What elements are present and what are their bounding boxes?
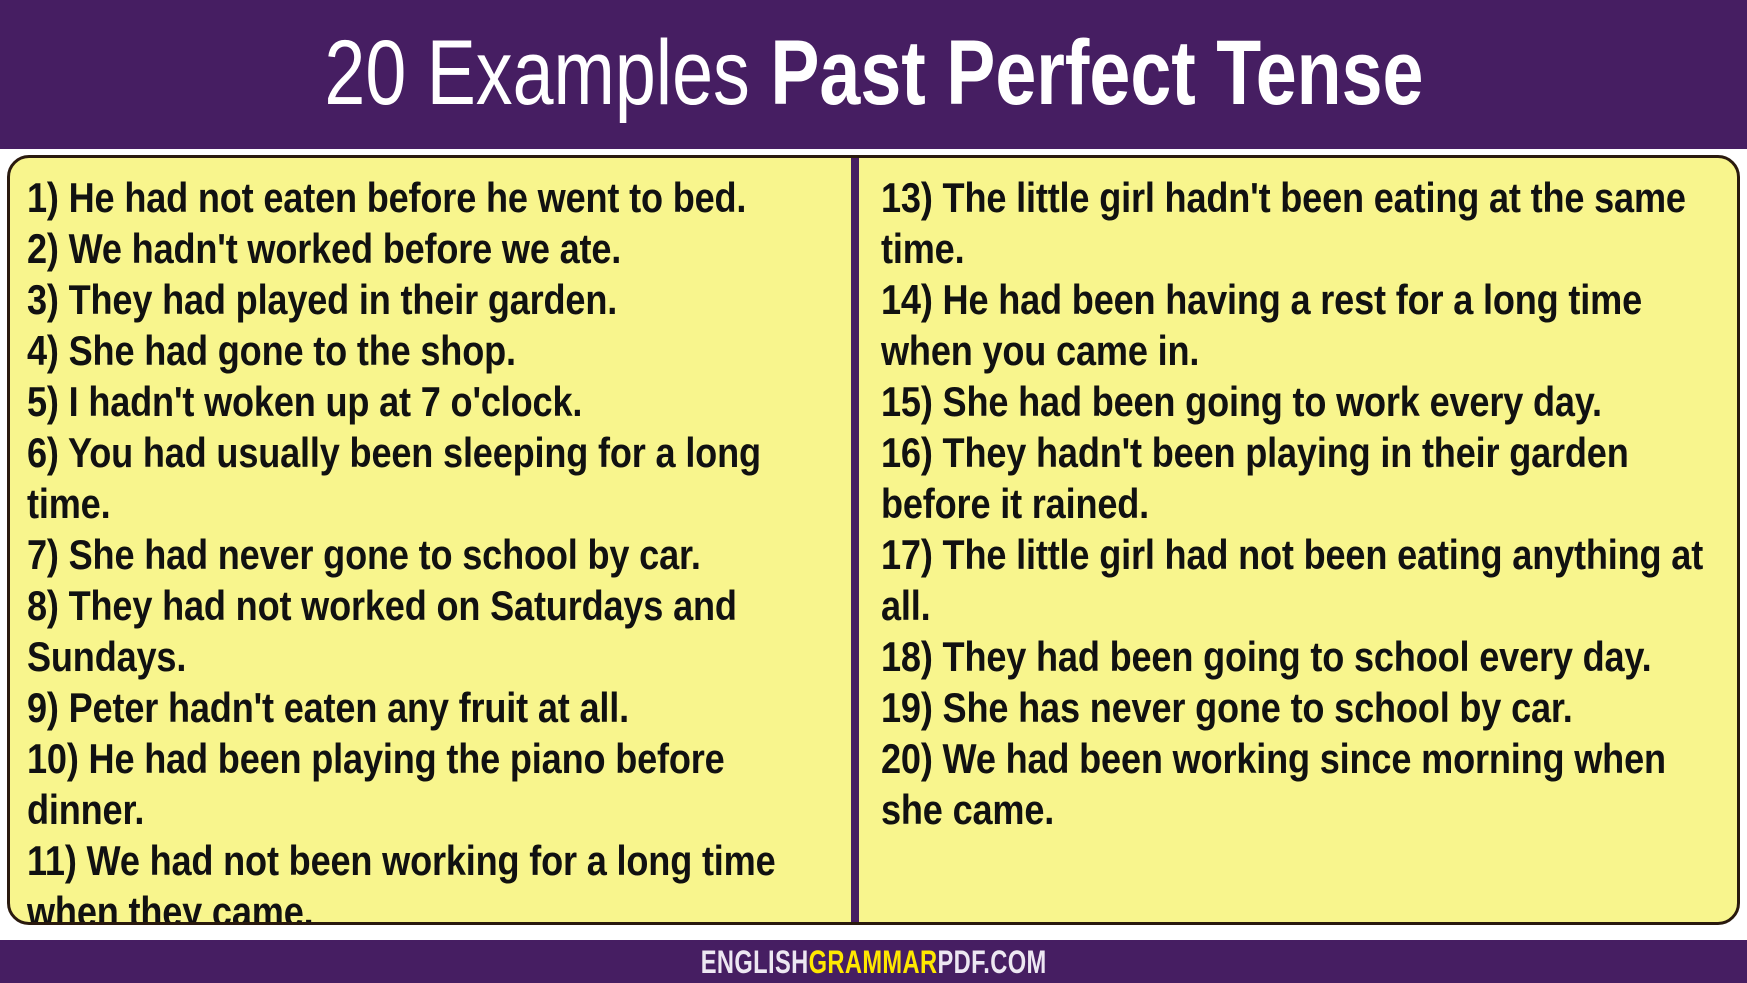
list-item: 17) The little girl had not been eating …	[881, 529, 1725, 631]
brand-pdfcom: PDF.COM	[937, 944, 1046, 980]
page-title-space	[749, 22, 769, 124]
list-item: 10) He had been playing the piano before…	[27, 733, 839, 835]
list-item: 14) He had been having a rest for a long…	[881, 274, 1725, 376]
column-divider	[851, 158, 859, 922]
page-title-topic: Past Perfect Tense	[770, 22, 1423, 124]
list-item: 5) I hadn't woken up at 7 o'clock.	[27, 376, 839, 427]
list-item: 1) He had not eaten before he went to be…	[27, 172, 839, 223]
list-item: 16) They hadn't been playing in their ga…	[881, 427, 1725, 529]
list-item: 15) She had been going to work every day…	[881, 376, 1725, 427]
list-item: 7) She had never gone to school by car.	[27, 529, 839, 580]
brand-grammar: GRAMMAR	[808, 944, 937, 980]
list-item: 3) They had played in their garden.	[27, 274, 839, 325]
list-item: 9) Peter hadn't eaten any fruit at all.	[27, 682, 839, 733]
list-item: 4) She had gone to the shop.	[27, 325, 839, 376]
footer-bar: ENGLISHGRAMMARPDF.COM	[0, 940, 1747, 983]
list-item: 13) The little girl hadn't been eating a…	[881, 172, 1725, 274]
list-item: 18) They had been going to school every …	[881, 631, 1725, 682]
page-title: 20 Examples Past Perfect Tense	[324, 27, 1423, 119]
examples-card: 1) He had not eaten before he went to be…	[7, 155, 1740, 925]
brand-english: ENGLISH	[701, 944, 809, 980]
site-brand: ENGLISHGRAMMARPDF.COM	[701, 946, 1047, 978]
page-title-count: 20 Examples	[324, 22, 749, 124]
list-item: 6) You had usually been sleeping for a l…	[27, 427, 839, 529]
header-bar: 20 Examples Past Perfect Tense	[0, 0, 1747, 149]
list-item: 8) They had not worked on Saturdays and …	[27, 580, 839, 682]
examples-column-right: 13) The little girl hadn't been eating a…	[859, 158, 1737, 922]
poster: 20 Examples Past Perfect Tense 1) He had…	[0, 0, 1747, 983]
list-item: 11) We had not been working for a long t…	[27, 835, 839, 922]
list-item: 20) We had been working since morning wh…	[881, 733, 1725, 835]
list-item: 2) We hadn't worked before we ate.	[27, 223, 839, 274]
list-item: 19) She has never gone to school by car.	[881, 682, 1725, 733]
examples-column-left: 1) He had not eaten before he went to be…	[10, 158, 851, 922]
